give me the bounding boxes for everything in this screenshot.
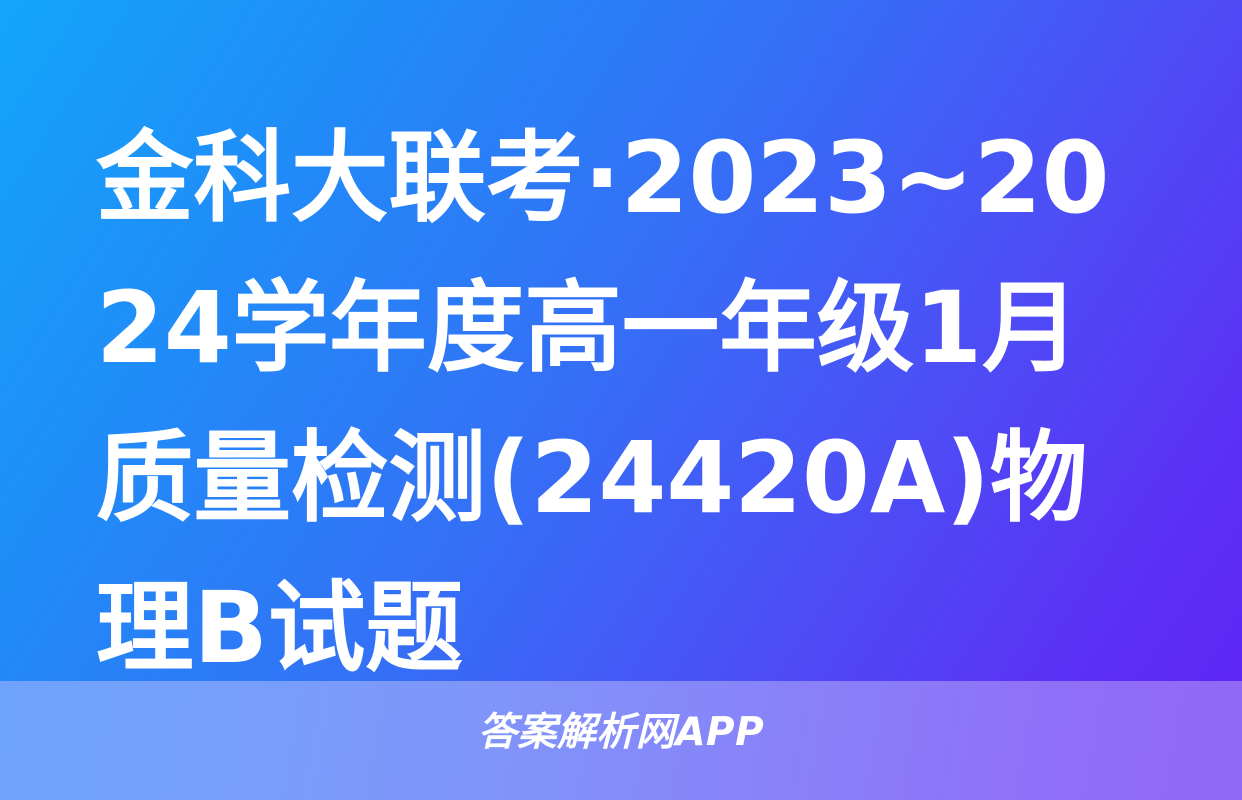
banner-page: 金科大联考·2023~2024学年度高一年级1月质量检测(24420A)物理B试… <box>0 0 1242 800</box>
page-title: 金科大联考·2023~2024学年度高一年级1月质量检测(24420A)物理B试… <box>96 104 1140 704</box>
hero-gradient-background: 金科大联考·2023~2024学年度高一年级1月质量检测(24420A)物理B试… <box>0 0 1242 681</box>
footer-watermark-text: 答案解析网APP <box>0 711 1242 755</box>
title-block: 金科大联考·2023~2024学年度高一年级1月质量检测(24420A)物理B试… <box>96 104 1156 664</box>
